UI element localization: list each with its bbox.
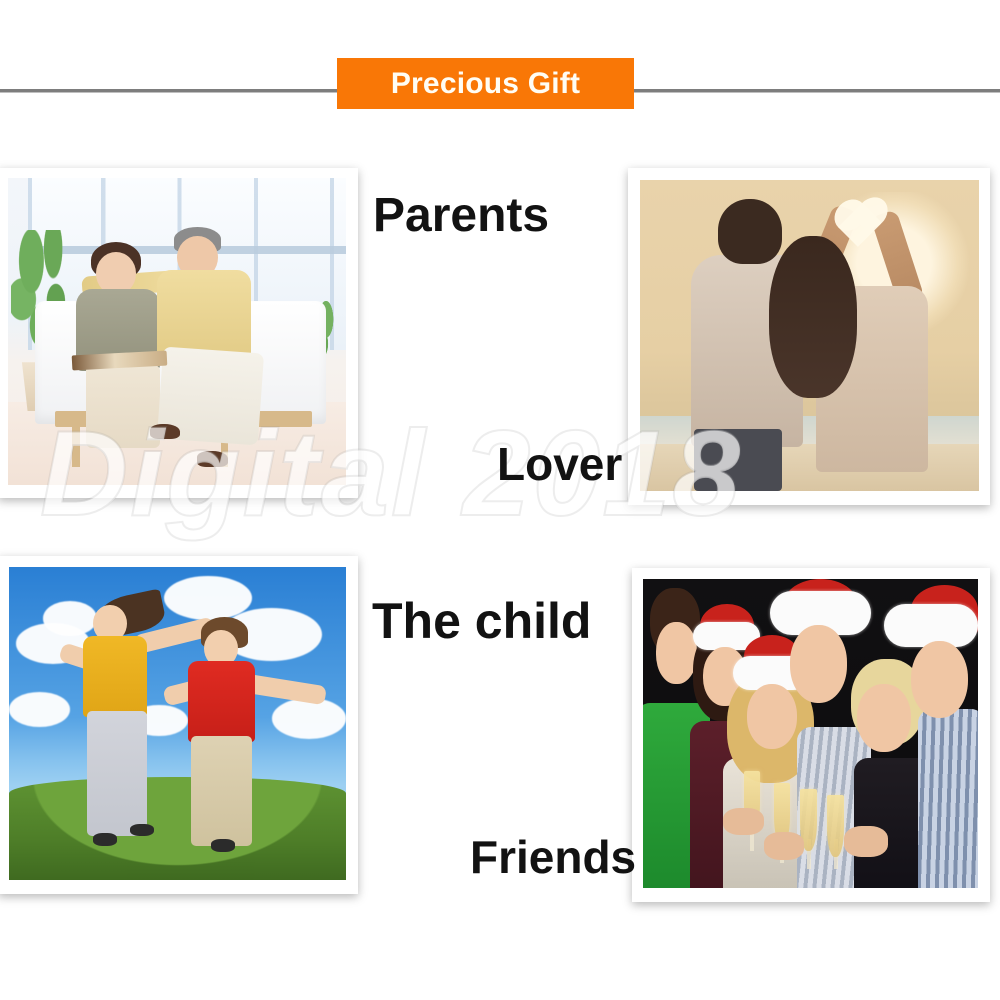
man-shoe-upper [150,424,180,439]
santa-hat-fur-brim [884,604,978,647]
photo-lover [640,180,979,491]
caption-lover: Lover [497,437,622,491]
caption-the-child: The child [372,592,591,650]
scene-kids-field [9,567,346,880]
person-6-face [911,641,968,718]
photo-parents [8,178,346,485]
hand [723,808,763,836]
caption-friends: Friends [470,830,636,884]
person-blue-striped-right [918,709,978,888]
photo-card-lover[interactable] [628,168,990,505]
person-1-face [656,622,696,684]
shoe [211,839,235,852]
woman-trousers [86,365,160,448]
photo-child [9,567,346,880]
man-head [718,199,782,264]
man-shoe-lower [197,451,227,466]
boy-khaki-pants [191,736,252,846]
photo-card-child[interactable] [0,556,358,894]
cloud [43,601,97,635]
photo-friends [643,579,978,888]
scene-christmas-party [643,579,978,888]
shoe [130,824,154,837]
section-title-text: Precious Gift [391,69,580,99]
cloud [9,692,70,726]
hand [764,832,804,860]
promo-banner: Precious Gift [0,0,1000,1000]
scene-living-room [8,178,346,485]
man-shorts [694,429,782,491]
grass-field [9,777,346,880]
section-title-badge: Precious Gift [337,58,634,109]
girl-grey-pants [87,711,148,836]
hand [844,826,888,857]
person-5-face [857,684,911,752]
person-4-face [790,625,847,702]
cloud [272,698,346,739]
person-3-face [747,684,797,749]
caption-parents: Parents [373,188,549,243]
woman-long-hair [769,236,857,398]
scene-beach-sunset [640,180,979,491]
sand [640,444,979,491]
photo-card-parents[interactable] [0,168,358,498]
shoe [93,833,117,846]
header: Precious Gift [0,0,1000,140]
champagne-glass [827,795,844,857]
girl-yellow-shirt [83,636,147,717]
boy-arm-right [244,673,327,704]
sofa-leg-left [72,424,79,467]
boy-red-shirt [188,661,255,742]
photo-card-friends[interactable] [632,568,990,902]
